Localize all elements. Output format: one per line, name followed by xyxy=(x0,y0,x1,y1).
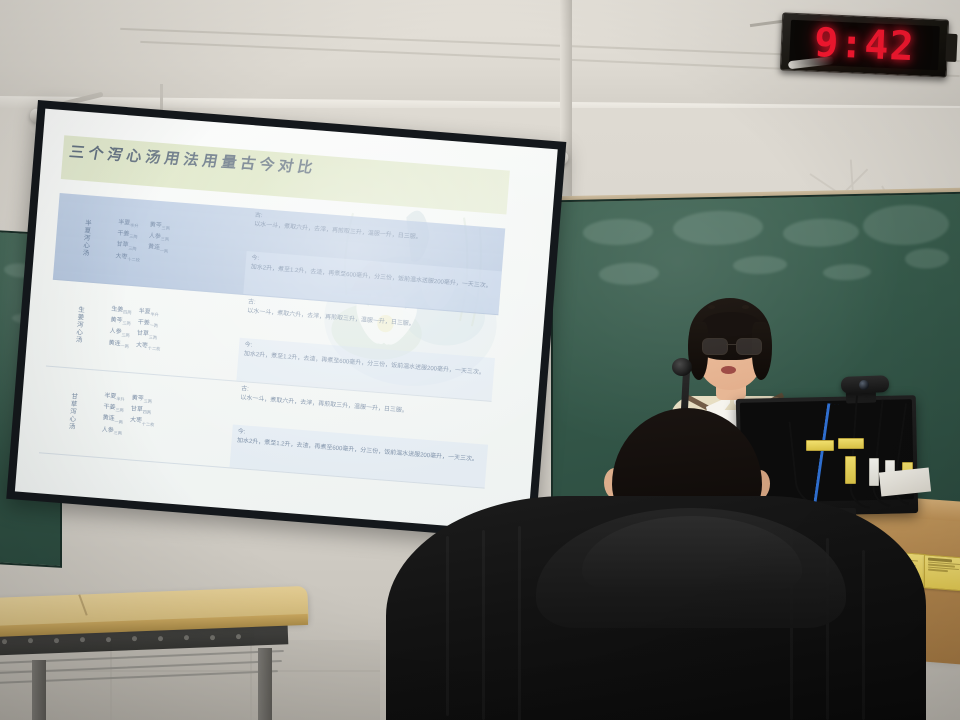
herb-item: 黄芩三两 xyxy=(131,394,156,406)
herb-item: 人参三两 xyxy=(101,426,122,437)
floor-tile-seam xyxy=(110,640,112,720)
herb-item: 半夏半升 xyxy=(138,308,163,320)
microphone-icon xyxy=(672,358,692,376)
herb-item: 半夏半升 xyxy=(118,219,143,231)
glasses-lens xyxy=(736,338,762,355)
glasses-lens xyxy=(702,338,728,355)
herb-list: 生姜四两 黄芩三两 人参三两 黄连一两 半夏半升 干姜一两 甘草三两 大枣十二枚 xyxy=(103,284,243,380)
webcam-icon xyxy=(841,375,890,394)
herb-item: 甘草三两 xyxy=(136,330,161,342)
herb-item: 大枣十二枚 xyxy=(115,252,140,264)
glasses-bridge xyxy=(726,344,736,345)
herb-item: 黄芩三两 xyxy=(110,317,131,328)
herb-item: 半夏半升 xyxy=(104,392,125,403)
herb-item: 黄连一两 xyxy=(147,244,168,255)
desk-leg xyxy=(258,648,272,720)
herb-item: 生姜四两 xyxy=(111,305,132,316)
clock-mounting-bracket xyxy=(945,34,957,62)
classroom-photo: 9:42 三个泻心汤用法用量古今对比 xyxy=(0,0,960,720)
formula-name: 甘草泻心汤 xyxy=(39,366,104,456)
herb-item: 黄芩三两 xyxy=(149,221,170,232)
desk-leg xyxy=(32,660,46,720)
herb-item: 黄连一两 xyxy=(108,339,129,350)
presenter-eye xyxy=(742,305,749,309)
seated-student xyxy=(386,430,926,720)
herb-item: 大枣十二枚 xyxy=(129,417,154,429)
herb-item: 甘草四两 xyxy=(130,406,155,418)
formula-name: 半夏泻心汤 xyxy=(52,193,117,283)
glasses-icon xyxy=(700,338,762,354)
screen-ceiling-stem xyxy=(160,84,163,112)
herb-item: 大枣十二枚 xyxy=(135,341,160,353)
herb-item: 人参三两 xyxy=(109,328,130,339)
asset-label-tag xyxy=(924,554,960,591)
herb-item: 甘草三两 xyxy=(116,241,141,253)
herb-item: 干姜一两 xyxy=(137,319,162,331)
webcam-lens xyxy=(859,380,869,390)
presenter-eye xyxy=(708,305,715,309)
digital-wall-clock: 9:42 xyxy=(780,12,949,77)
presenter-mouth xyxy=(721,366,736,374)
herb-item: 黄连一两 xyxy=(102,415,123,426)
herb-list: 半夏半升 干姜三两 甘草三两 大枣十二枚 黄芩三两 人参三两 黄连一两 xyxy=(110,197,250,293)
clock-housing: 9:42 xyxy=(780,12,949,77)
herb-item: 干姜三两 xyxy=(117,230,142,242)
herb-list: 半夏半升 干姜三两 黄连一两 人参三两 黄芩三两 甘草四两 大枣十二枚 xyxy=(97,371,237,467)
formula-name: 生姜泻心汤 xyxy=(46,279,111,369)
herb-item: 干姜三两 xyxy=(103,403,124,414)
herb-item: 人参三两 xyxy=(148,232,169,243)
